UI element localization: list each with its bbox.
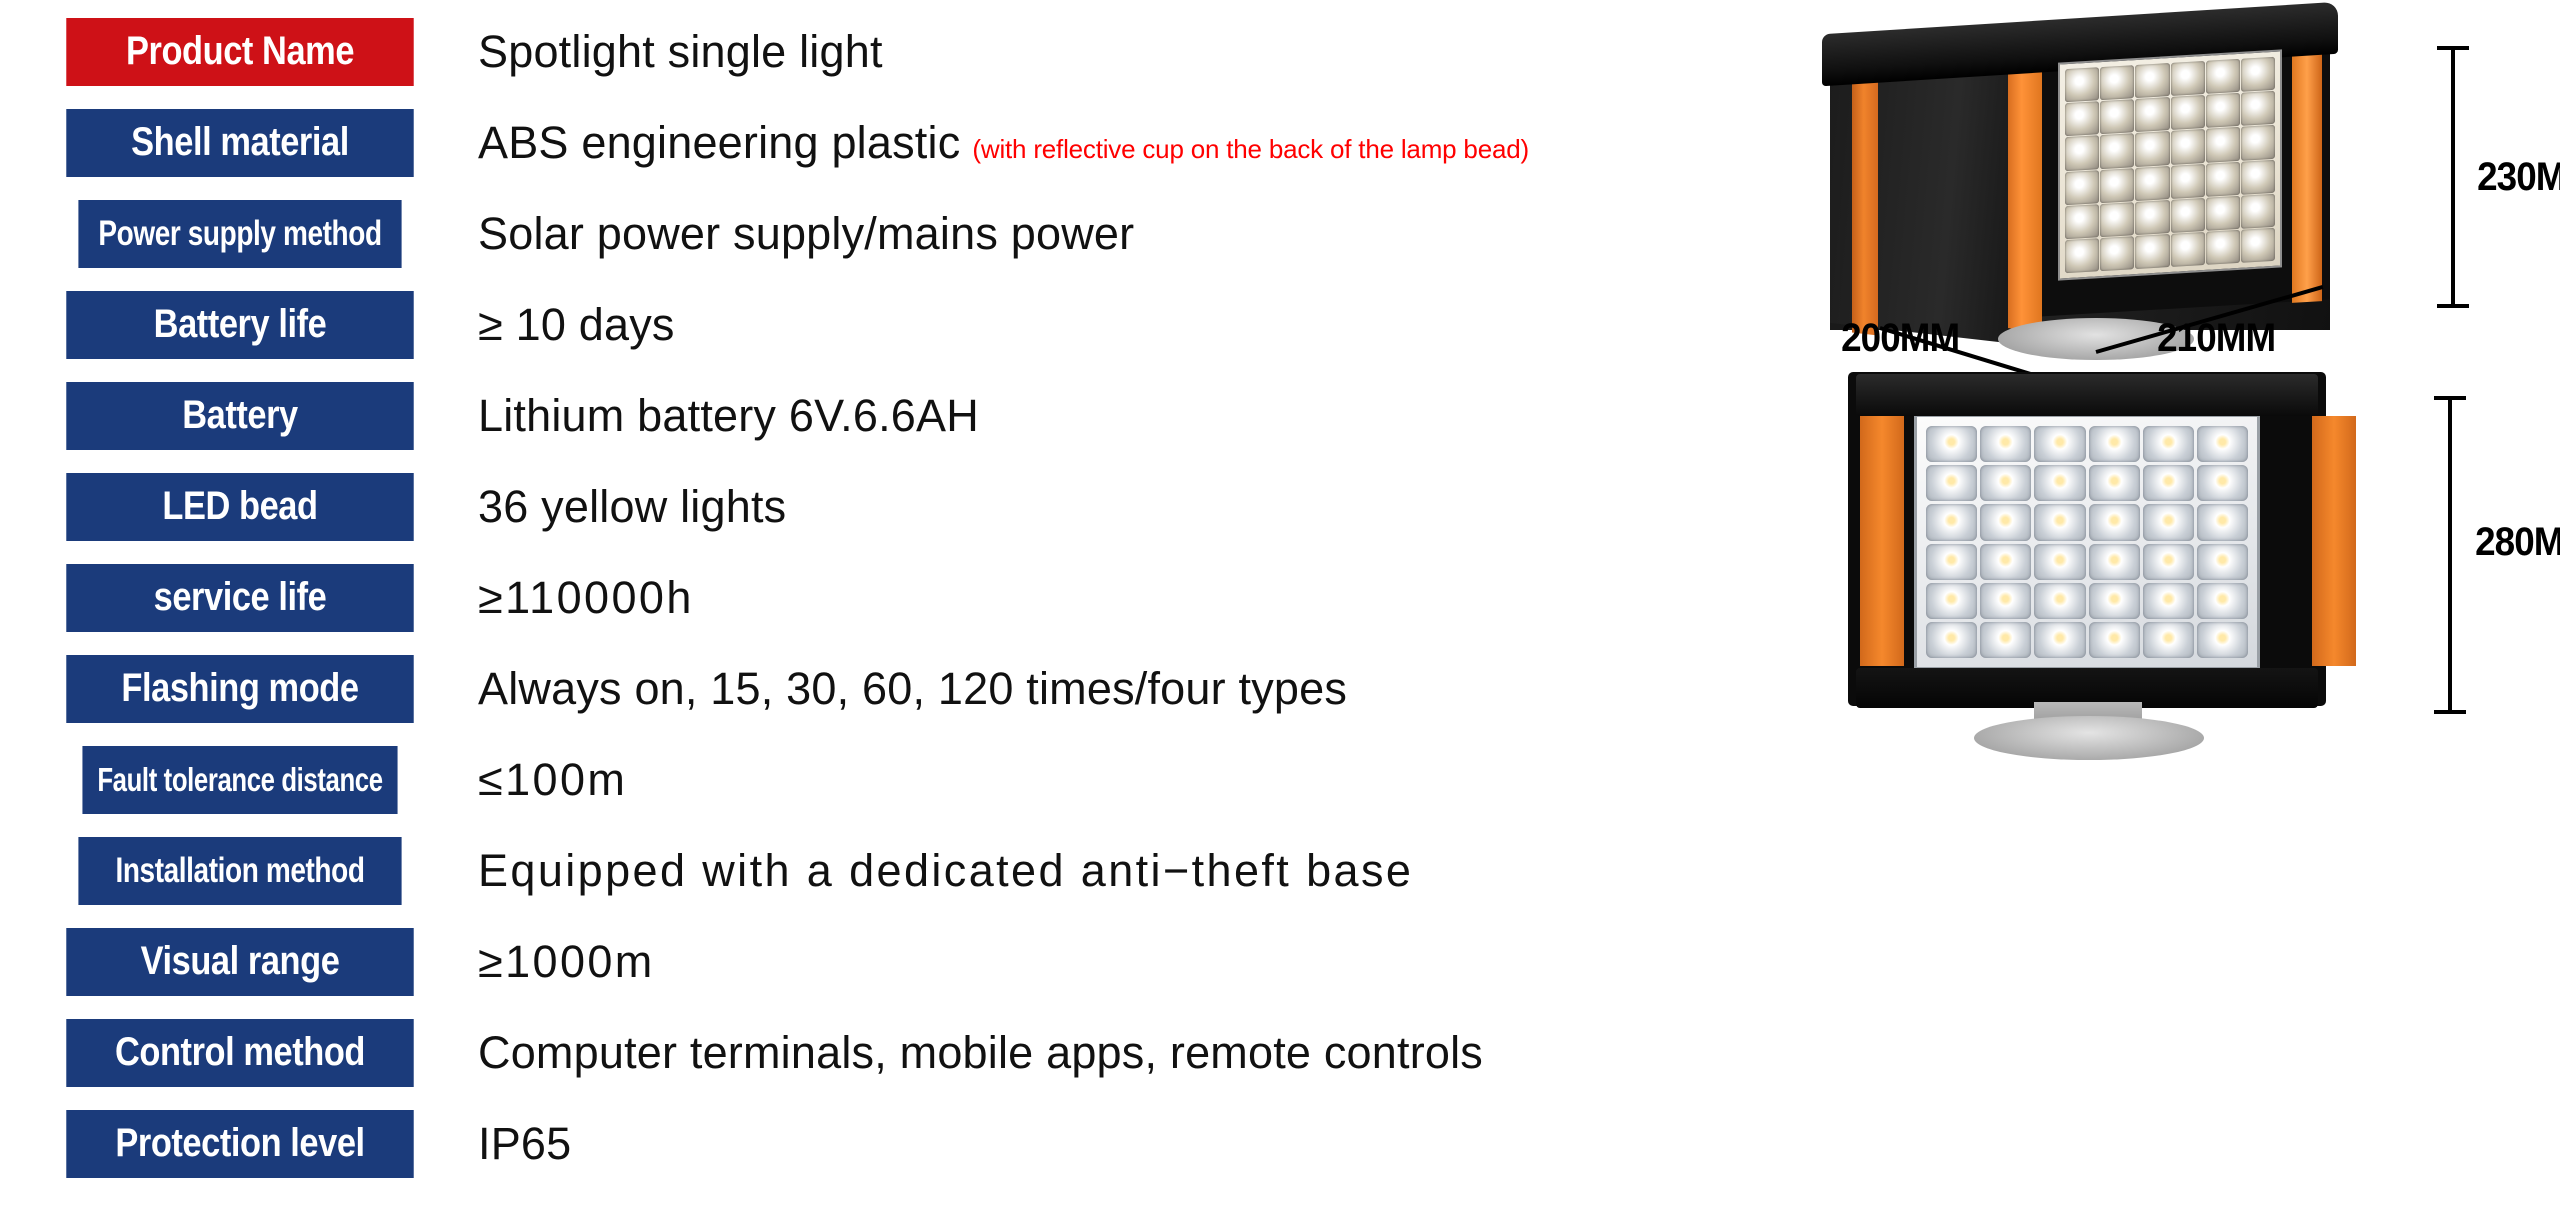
product-spec-sheet: Product Name Spotlight single light Shel… (0, 0, 2560, 1228)
spec-label-product-name: Product Name (66, 18, 413, 86)
table-row: Protection level IP65 (38, 1106, 1798, 1181)
table-row: LED bead 36 yellow lights (38, 469, 1798, 544)
spec-value-battery: Lithium battery 6V.6.6AH (478, 390, 979, 442)
dimension-label-230mm: 230MM (2477, 155, 2560, 200)
orange-strip-right (2292, 45, 2322, 303)
led-panel (1914, 414, 2260, 670)
spec-value-led-bead: 36 yellow lights (478, 481, 786, 533)
dimension-line-height-top (2451, 46, 2455, 308)
table-row: Battery Lithium battery 6V.6.6AH (38, 378, 1798, 453)
spec-table: Product Name Spotlight single light Shel… (38, 14, 1798, 1197)
spec-label-protection-level: Protection level (66, 1110, 413, 1178)
product-image-area: 230MM 200MM 210MM (1800, 0, 2560, 1228)
spec-value-service-life: ≥110000h (478, 572, 694, 624)
shell-material-note: (with reflective cup on the back of the … (972, 134, 1529, 165)
spec-label-flashing-mode: Flashing mode (66, 655, 413, 723)
table-row: Flashing mode Always on, 15, 30, 60, 120… (38, 651, 1798, 726)
housing-top-bar (1856, 374, 2318, 416)
dimension-label-280mm: 280MM (2475, 520, 2560, 565)
table-row: Battery life ≥ 10 days (38, 287, 1798, 362)
orange-strip-left (1852, 71, 1878, 336)
mounting-base (1974, 716, 2204, 760)
table-row: Fault tolerance distance ≤100m (38, 742, 1798, 817)
shell-material-text: ABS engineering plastic (478, 117, 960, 169)
spec-label-visual-range: Visual range (66, 928, 413, 996)
spec-value-installation-method: Equipped with a dedicated anti−theft bas… (478, 845, 1413, 897)
spec-label-control-method: Control method (66, 1019, 413, 1087)
spec-label-shell-material: Shell material (66, 109, 413, 177)
orange-strip-left (1860, 416, 1904, 666)
spec-label-led-bead: LED bead (66, 473, 413, 541)
spec-value-battery-life: ≥ 10 days (478, 299, 675, 351)
dimension-label-200mm: 200MM (1841, 316, 1959, 361)
dimension-cap-bottom (2437, 304, 2469, 308)
table-row: Power supply method Solar power supply/m… (38, 196, 1798, 271)
table-row: Visual range ≥1000m (38, 924, 1798, 999)
dimension-cap-top (2434, 396, 2466, 400)
spec-value-product-name: Spotlight single light (478, 26, 883, 78)
spec-value-flashing-mode: Always on, 15, 30, 60, 120 times/four ty… (478, 663, 1347, 715)
table-row: service life ≥110000h (38, 560, 1798, 635)
led-panel (2058, 49, 2282, 280)
spec-value-fault-tolerance-distance: ≤100m (478, 754, 627, 806)
spec-value-protection-level: IP65 (478, 1118, 571, 1170)
dimension-line-height-bottom (2448, 396, 2452, 714)
table-row: Installation method Equipped with a dedi… (38, 833, 1798, 908)
spec-value-control-method: Computer terminals, mobile apps, remote … (478, 1027, 1483, 1079)
dimension-cap-top (2437, 46, 2469, 50)
spec-label-service-life: service life (66, 564, 413, 632)
spec-label-battery: Battery (66, 382, 413, 450)
orange-strip-right (2312, 416, 2356, 666)
spec-label-fault-tolerance-distance: Fault tolerance distance (82, 746, 397, 814)
dimension-cap-bottom (2434, 710, 2466, 714)
spec-value-power-supply-method: Solar power supply/mains power (478, 208, 1134, 260)
spec-value-shell-material: ABS engineering plastic (with reflective… (478, 117, 1529, 169)
spotlight-perspective-view (1830, 18, 2360, 358)
table-row: Shell material ABS engineering plastic (… (38, 105, 1798, 180)
table-row: Control method Computer terminals, mobil… (38, 1015, 1798, 1090)
orange-strip-center (2008, 60, 2042, 332)
spec-label-installation-method: Installation method (78, 837, 401, 905)
spec-label-power-supply-method: Power supply method (78, 200, 401, 268)
spotlight-front-view (1848, 372, 2368, 740)
spec-value-visual-range: ≥1000m (478, 936, 655, 988)
spec-label-battery-life: Battery life (66, 291, 413, 359)
dimension-label-210mm: 210MM (2157, 316, 2275, 361)
table-row: Product Name Spotlight single light (38, 14, 1798, 89)
